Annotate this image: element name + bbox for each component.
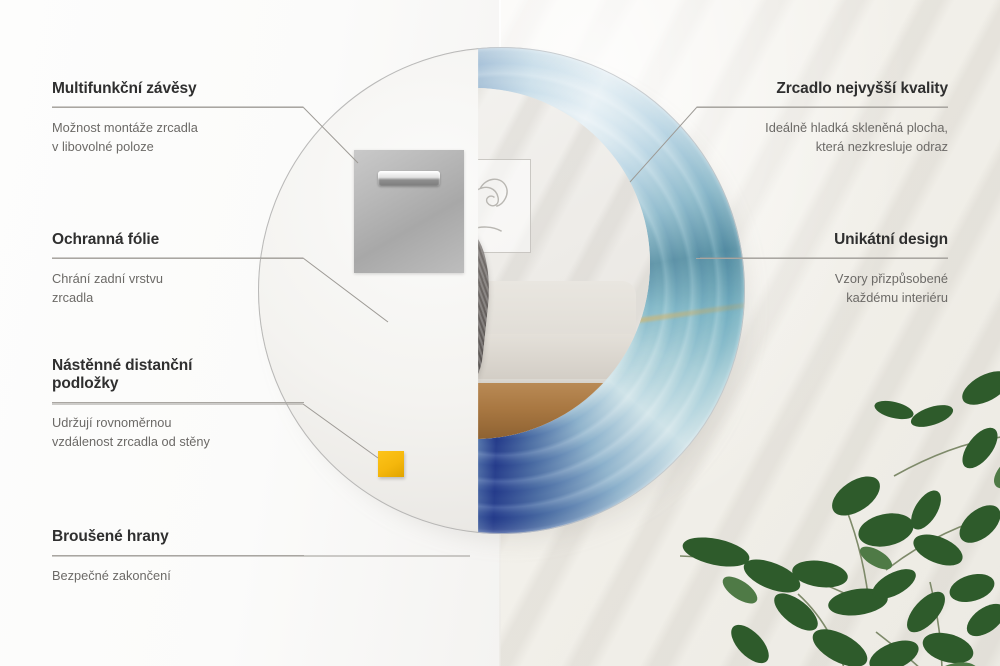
callout-rule: [696, 107, 948, 108]
callout-description: Ideálně hladká skleněná plocha, která ne…: [696, 119, 948, 156]
desc-line-2: zrcadla: [52, 289, 304, 308]
hanger-slot: [378, 171, 440, 186]
desc-line-1: Možnost montáže zrcadla: [52, 119, 304, 138]
desc-line-1: Ideálně hladká skleněná plocha,: [696, 119, 948, 138]
callout-zrcadlo-kvality: Zrcadlo nejvyšší kvality Ideálně hladká …: [696, 80, 948, 156]
desc-line-1: Udržují rovnoměrnou: [52, 414, 304, 433]
desc-line-2: v libovolné poloze: [52, 138, 304, 157]
callout-title: Multifunkční závěsy: [52, 80, 304, 98]
callout-rule: [52, 402, 304, 403]
desc-line-2: každému interiéru: [696, 289, 948, 308]
callout-title: Unikátní design: [696, 231, 948, 249]
callout-title: Nástěnné distanční podložky: [52, 357, 304, 393]
callout-description: Vzory přizpůsobené každému interiéru: [696, 270, 948, 307]
desc-line-2: vzdálenost zrcadla od stěny: [52, 433, 304, 452]
callout-rule: [52, 258, 304, 259]
callout-ochranna-folie: Ochranná fólie Chrání zadní vrstvu zrcad…: [52, 231, 304, 307]
callout-unikatni-design: Unikátní design Vzory přizpůsobené každé…: [696, 231, 948, 307]
yellow-spacer-pad: [378, 451, 404, 477]
decorative-plant: [680, 344, 1000, 666]
callout-title: Ochranná fólie: [52, 231, 304, 249]
desc-line-2: která nezkresluje odraz: [696, 138, 948, 157]
desc-line-1: Vzory přizpůsobené: [696, 270, 948, 289]
callout-title: Zrcadlo nejvyšší kvality: [696, 80, 948, 98]
callout-title: Broušené hrany: [52, 528, 304, 546]
callout-description: Chrání zadní vrstvu zrcadla: [52, 270, 304, 307]
callout-brousene-hrany: Broušené hrany Bezpečné zakončení: [52, 528, 304, 586]
callout-rule: [52, 107, 304, 108]
callout-nastenne-podlozky: Nástěnné distanční podložky Udržují rovn…: [52, 357, 304, 451]
callout-rule: [696, 258, 948, 259]
title-line-2: podložky: [52, 375, 304, 393]
desc-line-1: Bezpečné zakončení: [52, 567, 304, 586]
callout-description: Možnost montáže zrcadla v libovolné polo…: [52, 119, 304, 156]
callout-description: Bezpečné zakončení: [52, 567, 304, 586]
callout-rule: [52, 555, 304, 556]
desc-line-1: Chrání zadní vrstvu: [52, 270, 304, 289]
callout-multifunkcni-zavesy: Multifunkční závěsy Možnost montáže zrca…: [52, 80, 304, 156]
callout-description: Udržují rovnoměrnou vzdálenost zrcadla o…: [52, 414, 304, 451]
round-mirror: [258, 47, 745, 534]
infographic-canvas: Multifunkční závěsy Možnost montáže zrca…: [0, 0, 1000, 666]
hanger-plate: [354, 150, 464, 273]
plant-leaves: [680, 364, 1000, 666]
title-line-1: Nástěnné distanční: [52, 357, 304, 375]
